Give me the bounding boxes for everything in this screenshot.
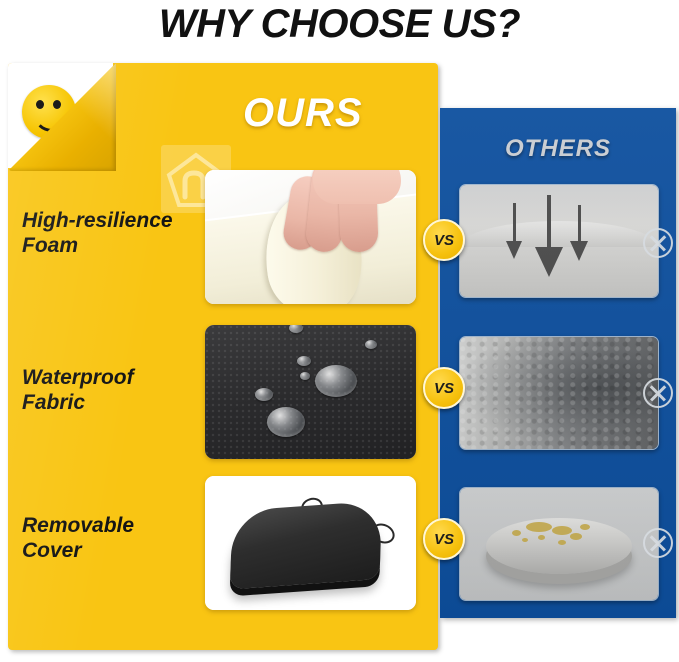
page-title: WHY CHOOSE US?	[0, 2, 679, 47]
vs-badge-row1: VS	[423, 219, 465, 261]
others-image-flat-padding	[459, 184, 659, 298]
vs-badge-row2: VS	[423, 367, 465, 409]
stain-spot	[522, 538, 528, 542]
hand-graphic	[283, 170, 401, 260]
water-droplet	[300, 372, 310, 380]
knuckle	[313, 170, 401, 204]
ours-heading: OURS	[243, 91, 363, 136]
feature-label-foam: High-resilience Foam	[22, 208, 207, 258]
ours-image-waterproof	[205, 325, 416, 459]
fabric-grain	[460, 337, 658, 449]
water-droplet	[255, 388, 273, 401]
feature-label-cover-line1: Removable	[22, 513, 207, 538]
water-droplet	[297, 356, 311, 366]
stain-spot	[558, 540, 566, 545]
feature-label-cover: Removable Cover	[22, 513, 207, 563]
others-image-soaked-fabric	[459, 336, 659, 450]
ours-image-foam	[205, 170, 416, 304]
stain-spot	[512, 530, 521, 536]
water-droplet	[365, 340, 377, 349]
others-panel: OTHERS	[440, 108, 676, 618]
stain-spot	[526, 522, 552, 532]
stain-spot	[580, 524, 590, 530]
stain-spot	[538, 535, 545, 540]
vs-badge-row3: VS	[423, 518, 465, 560]
circle-x-icon	[643, 378, 673, 408]
feature-label-foam-line2: Foam	[22, 233, 207, 258]
circle-x-icon	[643, 528, 673, 558]
feature-label-fabric-line1: Waterproof	[22, 365, 207, 390]
others-image-stained-cushion	[459, 487, 659, 601]
stain-spot	[552, 526, 572, 535]
feature-label-fabric-line2: Fabric	[22, 390, 207, 415]
fabric-texture	[205, 325, 416, 459]
stain-spot	[570, 533, 582, 540]
water-droplet	[315, 365, 357, 397]
feature-label-foam-line1: High-resilience	[22, 208, 207, 233]
feature-label-fabric: Waterproof Fabric	[22, 365, 207, 415]
ours-image-cover	[205, 476, 416, 610]
infographic-root: WHY CHOOSE US? OURS High-resilience Foam…	[0, 0, 679, 662]
others-heading: OTHERS	[440, 135, 676, 163]
feature-label-cover-line2: Cover	[22, 538, 207, 563]
water-droplet	[267, 407, 305, 437]
circle-x-icon	[643, 228, 673, 258]
